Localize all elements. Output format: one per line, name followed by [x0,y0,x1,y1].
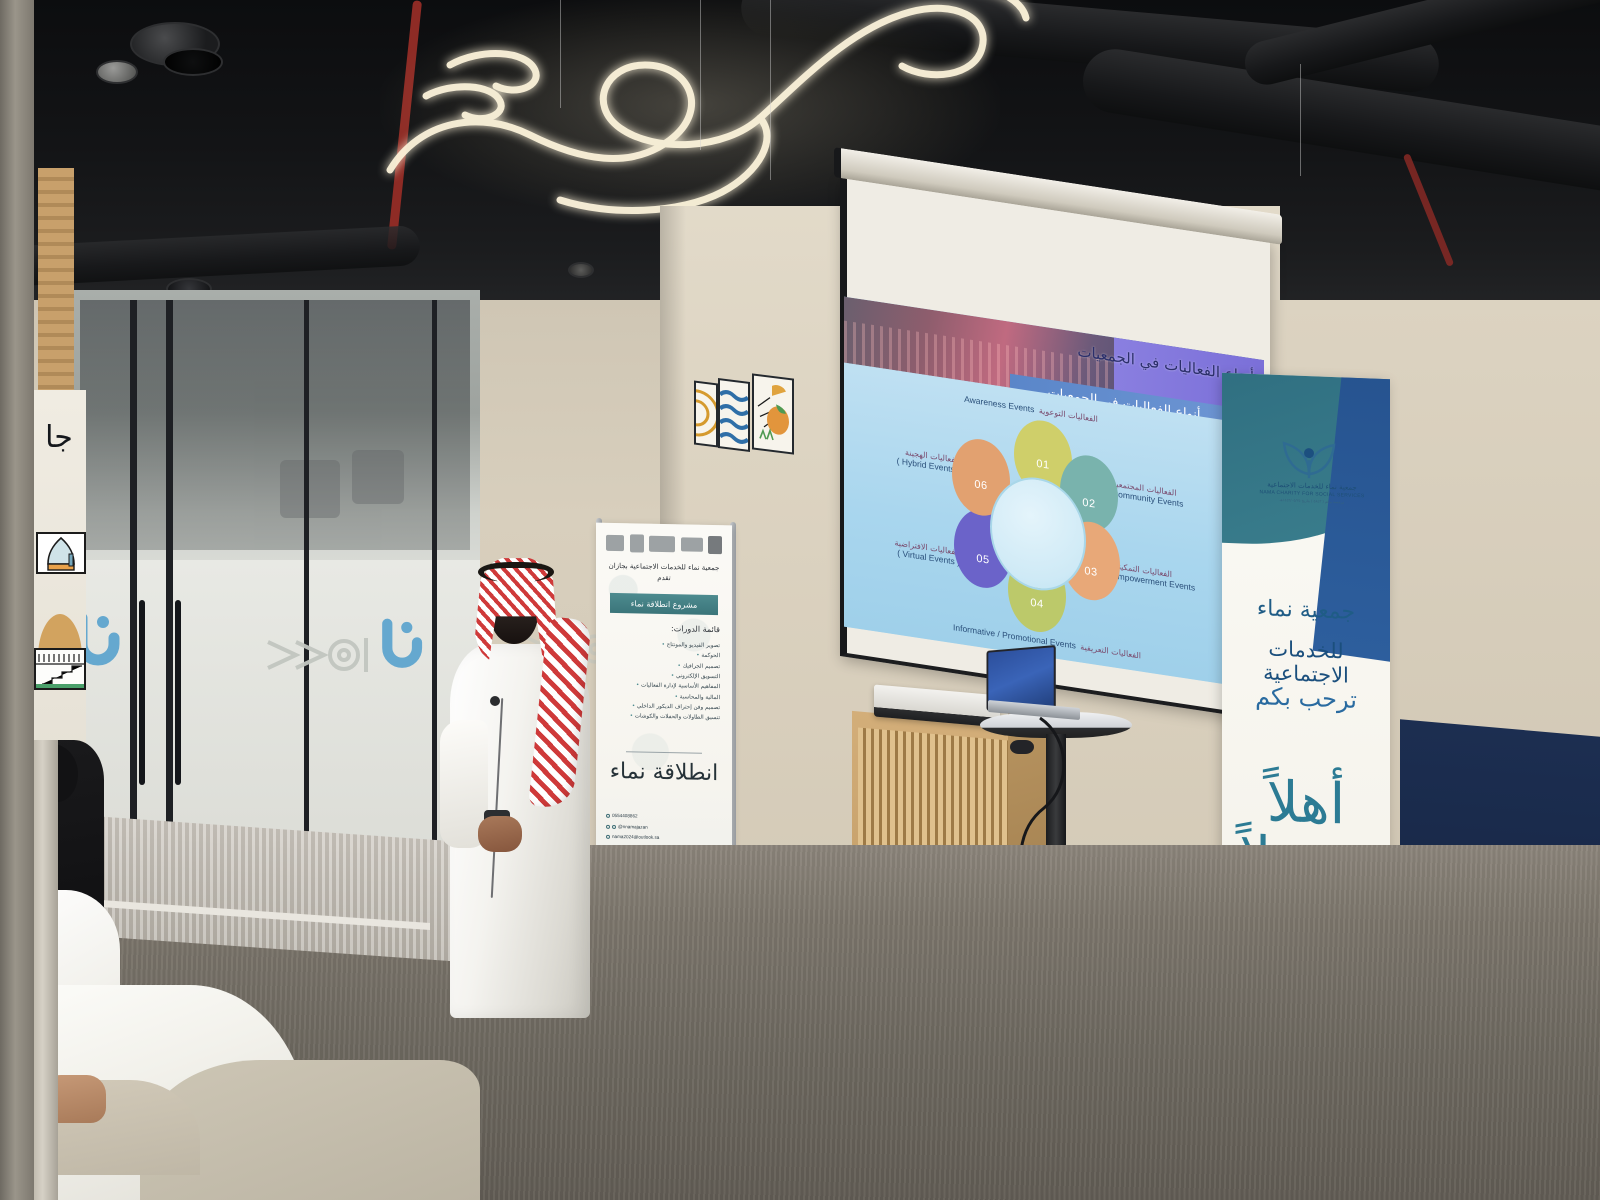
glass-logo-mark [378,618,430,681]
glass-mullion [130,300,137,846]
column-art-stairs [34,648,86,690]
wall-art-waves [718,378,750,452]
rollup-org-line: جمعية نماء للخدمات الاجتماعية بجازان تقد… [602,561,726,585]
partner-logo [708,536,722,554]
office-chair [280,460,340,518]
suspension-wire [1300,64,1301,176]
suspension-wire [770,0,771,180]
glass-mullion [166,300,173,846]
welcome-line-2: للخدمات الاجتماعية [1230,635,1382,689]
rollup-divider [626,751,702,754]
presenter-igal [478,562,554,582]
foreground-post [30,740,58,1200]
ceiling-speaker [163,48,223,76]
partner-logo [630,534,644,552]
glass-logo-secondary [262,630,382,685]
slide-label-05: الفعاليات الافتراضية ( Virtual Events ) [850,532,960,568]
rollup-social: @nnamajazan [618,822,648,833]
presenter-hands [478,816,522,852]
ceiling-spotlight [568,262,594,278]
projected-slide: أنواع الفعاليات في الجمعيات أنواع الفعال… [844,297,1264,691]
partner-logo [681,537,703,551]
instagram-icon [612,825,616,829]
meeting-room-interior [80,300,470,550]
office-chair [352,450,404,504]
partner-logo [649,536,675,553]
rollup-courses-heading: قائمة الدورات: [671,624,720,634]
presenter [432,548,608,1018]
slide-label-06: الفعاليات الهجينة ( Hybrid Events ) [850,440,960,476]
suspension-wire [560,0,561,108]
door-handle[interactable] [139,600,145,785]
rollup-partner-logos [606,533,722,555]
rollup-course-list: تصوير الفيديو والمونتاج الحوكمة تصميم ال… [608,639,720,724]
rollup-project-chip: مشروع انطلاقة نماء [610,593,718,615]
lapel-mic [490,696,500,706]
wall-art-sun-mango [752,373,794,454]
door-handle[interactable] [175,600,181,785]
partner-logo [606,535,624,551]
welcome-line-1: جمعية نماء [1230,595,1382,626]
frosted-glass-panel [62,560,480,850]
glass-mullion [304,300,309,848]
column-art-mosque [36,532,86,574]
wall-art-circles [694,381,718,448]
ceiling-spotlight [96,60,138,84]
welcome-line-3: ترحب بكم [1230,681,1382,715]
room-photo-scene: جا [0,0,1600,1200]
column-arabic-letters: جا [34,420,84,455]
rollup-banner: جمعية نماء للخدمات الاجتماعية بجازان تقد… [596,523,732,894]
nama-leaf-logo [1278,427,1340,481]
rollup-calligraphy: انطلاقة نماء [604,759,724,787]
rollup-course-item: تنسيق الطاولات والحفلات والكوشات [608,711,720,724]
left-frame-edge [0,0,34,1200]
sprinkler-pipe [1403,153,1454,267]
rollup-phone: 0554408862 [612,811,638,822]
suspension-wire [700,0,701,150]
